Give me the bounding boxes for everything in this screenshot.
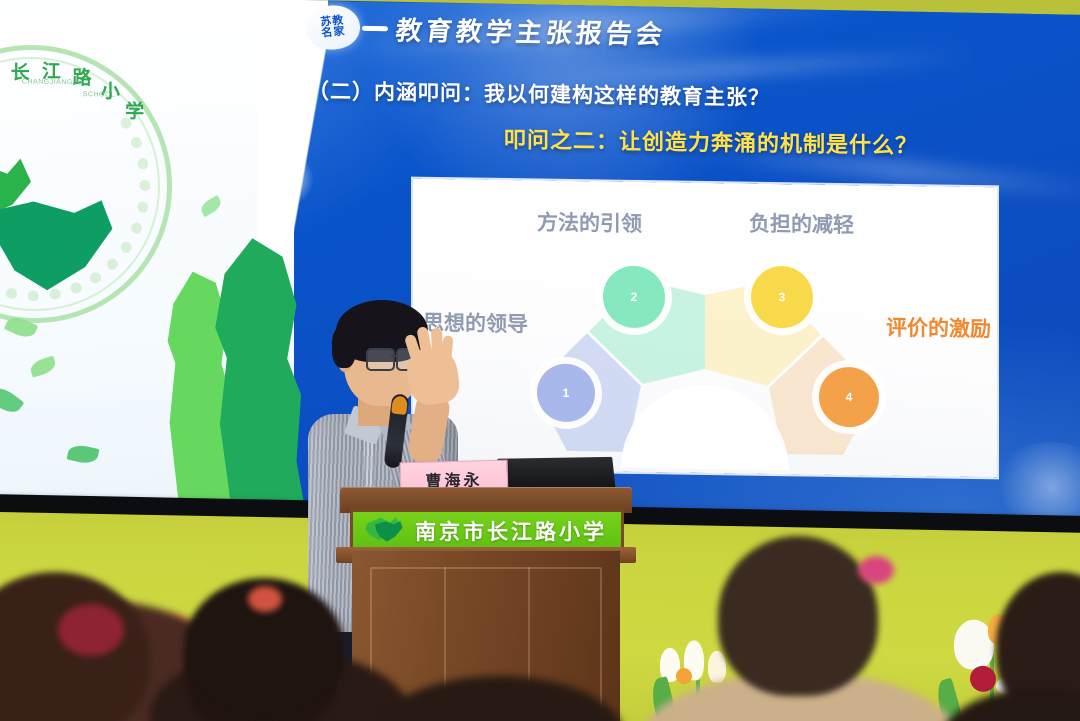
leaf-icon (67, 443, 100, 466)
segment-node-2: 2 (603, 265, 665, 328)
leaf-icon (0, 382, 24, 418)
hair-accessory (248, 586, 282, 612)
photo-scene: 南 京 市 长 江 路 小 学 NANJING CHANGJIANGLU SCH… (0, 0, 1080, 721)
brand-badge-line2: 名家 (321, 26, 346, 39)
segment-label-3: 负担的减轻 (749, 208, 854, 240)
presentation-title: 教育教学主张报告会 (394, 10, 669, 51)
segment-node-4: 4 (819, 367, 879, 428)
school-seal: 南 京 市 长 江 路 小 学 NANJING CHANGJIANGLU SCH… (0, 43, 172, 325)
slide-heading-line2: 叩问之二：让创造力奔涌的机制是什么？ (504, 122, 918, 160)
segment-node-3: 3 (751, 266, 813, 329)
hair-accessory (58, 604, 124, 656)
speaker-hand (404, 345, 461, 407)
brand-badge: 苏教 名家 (304, 3, 362, 52)
arc-diagram (509, 236, 901, 474)
segment-label-4: 评价的激励 (886, 312, 991, 344)
audience-person (718, 536, 878, 696)
bird-icon (365, 516, 405, 546)
hair-accessory (858, 556, 894, 584)
segment-label-2: 方法的引领 (537, 206, 642, 238)
brand-divider (362, 25, 388, 30)
leaf-icon (198, 195, 224, 217)
podium-sign-text: 南京市长江路小学 (415, 516, 607, 546)
leaf-icon (28, 356, 57, 378)
seal-pinyin: NANJING CHANGJIANGLU SCHOOL (0, 43, 172, 325)
presentation-brand: 苏教 名家 教育教学主张报告会 (306, 5, 666, 54)
segment-node-1: 1 (537, 363, 595, 422)
